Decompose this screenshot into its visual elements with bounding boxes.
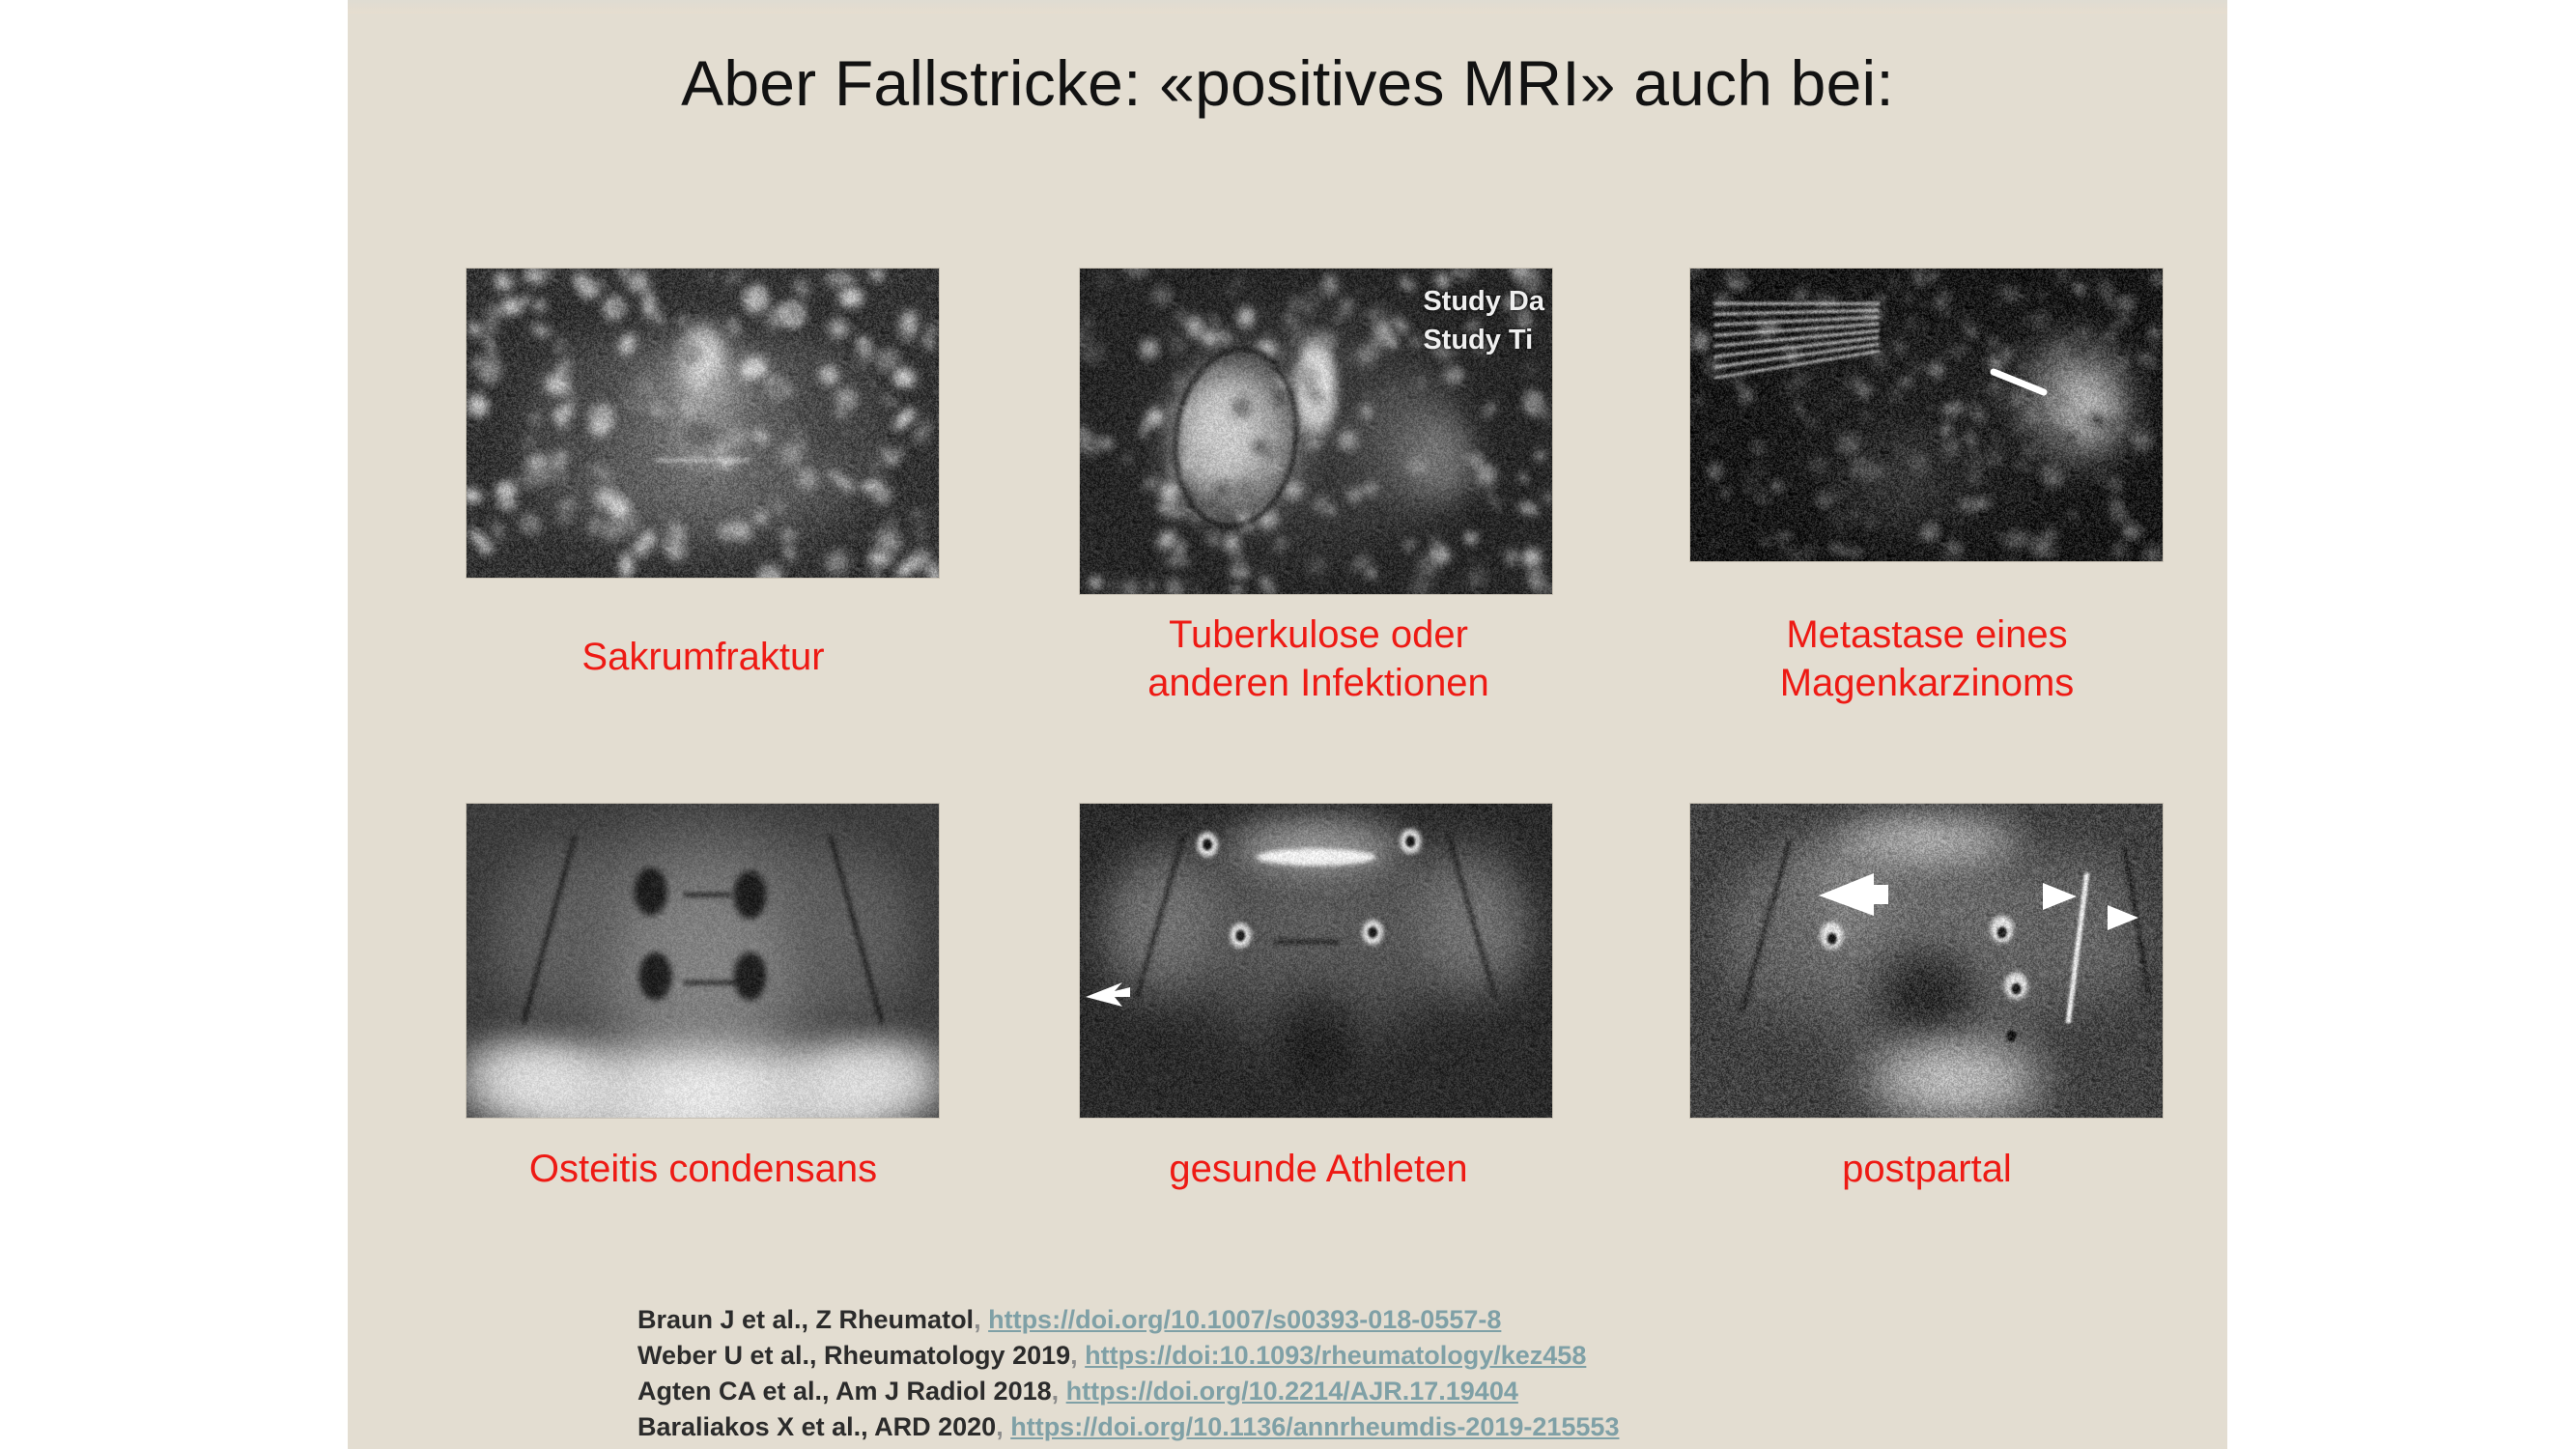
caption-metastase: Metastase eines Magenkarzinoms (1632, 611, 2222, 707)
arrow-line-right-icon (1690, 269, 2163, 561)
mri-image-osteitis (467, 804, 939, 1118)
figure-postpartal (1690, 804, 2163, 1118)
mri-image-metastase (1690, 269, 2163, 561)
reference-doi-link[interactable]: https://doi.org/10.1136/annrheumdis-2019… (1010, 1412, 1619, 1441)
caption-osteitis: Osteitis condensans (404, 1145, 1003, 1193)
caption-sakrumfraktur: Sakrumfraktur (404, 633, 1003, 681)
reference-row: Weber U et al., Rheumatology 2019, https… (637, 1338, 2144, 1374)
arrowhead-1-icon (2043, 883, 2077, 910)
reference-row: Braun J et al., Z Rheumatol, https://doi… (637, 1302, 2144, 1338)
figure-athleten (1080, 804, 1552, 1118)
reference-doi-link[interactable]: https://doi:10.1093/rheumatology/kez458 (1085, 1341, 1586, 1370)
reference-authors: Baraliakos X et al., ARD 2020 (637, 1412, 996, 1441)
page-title: Aber Fallstricke: «positives MRI» auch b… (348, 46, 2227, 120)
mri-image-athleten (1080, 804, 1552, 1118)
arrow-small-left-icon (1080, 804, 1552, 1118)
caption-tuberkulose: Tuberkulose oder anderen Infektionen (1024, 611, 1613, 707)
mri-image-tuberkulose: Study Da Study Ti (1080, 269, 1552, 594)
reference-authors: Braun J et al., Z Rheumatol (637, 1305, 974, 1334)
dicom-overlay-text: Study Da Study Ti (1423, 282, 1544, 359)
figure-tuberkulose: Study Da Study Ti (1080, 269, 1552, 594)
figure-metastase (1690, 269, 2163, 561)
figure-sakrumfraktur (467, 269, 939, 578)
reference-doi-link[interactable]: https://doi.org/10.2214/AJR.17.19404 (1066, 1377, 1518, 1406)
reference-row: Agten CA et al., Am J Radiol 2018, https… (637, 1374, 2144, 1409)
reference-row: Baraliakos X et al., ARD 2020, https://d… (637, 1409, 2144, 1445)
caption-postpartal: postpartal (1632, 1145, 2222, 1193)
mri-image-sakrumfraktur (467, 269, 939, 578)
mri-image-postpartal (1690, 804, 2163, 1118)
reference-authors: Weber U et al., Rheumatology 2019 (637, 1341, 1070, 1370)
references-block: Braun J et al., Z Rheumatol, https://doi… (637, 1302, 2144, 1445)
block-arrow-left-icon (1819, 873, 1888, 916)
caption-athleten: gesunde Athleten (1024, 1145, 1613, 1193)
figure-osteitis (467, 804, 939, 1118)
slide-canvas: Aber Fallstricke: «positives MRI» auch b… (348, 0, 2227, 1449)
arrowhead-2-icon (2108, 905, 2138, 930)
reference-authors: Agten CA et al., Am J Radiol 2018 (637, 1377, 1052, 1406)
reference-doi-link[interactable]: https://doi.org/10.1007/s00393-018-0557-… (988, 1305, 1501, 1334)
